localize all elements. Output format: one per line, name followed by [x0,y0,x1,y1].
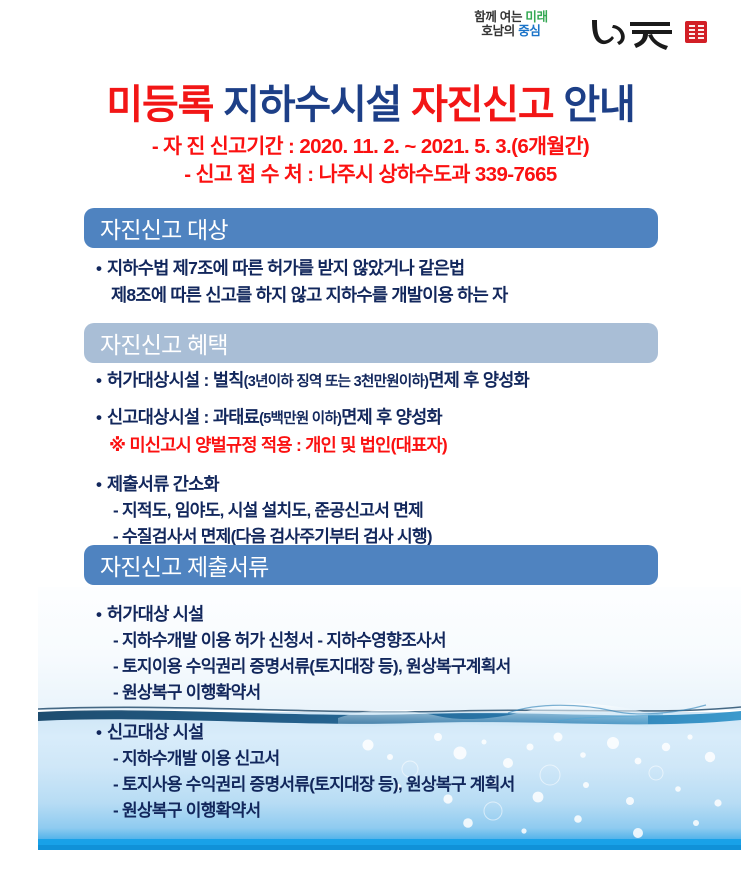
bullet-item: •허가대상시설 : 벌칙(3년이하 징역 또는 3천만원이하)면제 후 양성화 [96,367,696,395]
brand-slogan-line-2: 호남의 중심 [447,24,575,38]
bullet-paren: (5백만원 이하) [259,411,341,427]
page-title: 미등록 지하수시설 자진신고 안내 [0,72,741,130]
continuation-line: 제8조에 따른 신고를 하지 않고 지하수를 개발이용 하는 자 [96,282,696,308]
naju-wordmark-logo [586,12,716,52]
sub-item: - 토지이용 수익권리 증명서류(토지대장 등), 원상복구계획서 [96,654,696,680]
brand-slogan-line-2-plain: 호남의 [481,24,518,38]
notice-subinfo: - 자 진 신고기간 : 2020. 11. 2. ~ 2021. 5. 3.(… [0,133,741,189]
bullet-item: •신고대상시설 : 과태료(5백만원 이하)면제 후 양성화 [96,404,696,432]
bullet-dot-icon: • [96,368,107,394]
bullet-dot-icon: • [96,405,107,431]
page-title-part-1: 미등록 [106,83,213,127]
footer: NA JU 나 주 시 문의전화 : 339-7665 [0,852,741,891]
brand-slogan-line-1: 함께 여는 미래 [447,10,575,24]
bullet-dot-icon: • [96,472,107,498]
page-title-part-3: 자진신고 [411,83,553,127]
sub-item: - 지하수개발 이용 신고서 [96,746,696,772]
bullet-text: 신고대상시설 : 과태료 [107,407,259,427]
section-header-target: 자진신고 대상 [84,208,658,248]
section-body-benefit: •허가대상시설 : 벌칙(3년이하 징역 또는 3천만원이하)면제 후 양성화 … [96,367,696,550]
bullet-item: •지하수법 제7조에 따른 허가를 받지 않았거나 같은법 [96,255,696,282]
bullet-paren: (3년이하 징역 또는 3천만원이하) [244,374,429,390]
section-body-target: •지하수법 제7조에 따른 허가를 받지 않았거나 같은법 제8조에 따른 신고… [96,255,696,308]
warning-line: ※ 미신고시 양벌규정 적용 : 개인 및 법인(대표자) [96,432,696,458]
sub-item: - 원상복구 이행확약서 [96,680,696,706]
brand-slogan-line-1-accent: 미래 [525,10,547,24]
section-header-documents-label: 자진신고 제출서류 [100,548,268,582]
page-title-part-4: 안내 [563,83,634,127]
bullet-tail: 면제 후 양성화 [341,407,442,427]
spacer [96,706,696,719]
bullet-text: 제출서류 간소화 [107,474,219,494]
bullet-item: •제출서류 간소화 [96,471,696,498]
sub-item: - 지적도, 임야도, 시설 설치도, 준공신고서 면제 [96,498,696,524]
bullet-tail: 면제 후 양성화 [428,370,529,390]
section-header-benefit-label: 자진신고 혜택 [100,326,228,360]
brand-slogan-line-2-accent: 중심 [518,24,540,38]
bullet-text: 지하수법 제7조에 따른 허가를 받지 않았거나 같은법 [107,258,464,278]
spacer [96,458,696,471]
bullet-dot-icon: • [96,720,107,746]
bullet-dot-icon: • [96,602,107,628]
sub-item: - 원상복구 이행확약서 [96,798,696,824]
bullet-text: 허가대상 시설 [107,604,204,624]
section-body-documents: •허가대상 시설 - 지하수개발 이용 허가 신청서 - 지하수영향조사서 - … [96,601,696,824]
bullet-text: 허가대상시설 : 벌칙 [107,370,244,390]
bullet-item: •신고대상 시설 [96,719,696,746]
brand-slogan: 함께 여는 미래 호남의 중심 [447,10,575,39]
spacer [96,395,696,404]
brand-strip: 함께 여는 미래 호남의 중심 [0,6,741,54]
notice-period-line: - 자 진 신고기간 : 2020. 11. 2. ~ 2021. 5. 3.(… [0,133,741,161]
page-title-part-2: 지하수시설 [223,83,401,127]
section-header-benefit: 자진신고 혜택 [84,323,658,363]
brand-slogan-line-1-plain: 함께 여는 [474,10,525,24]
notice-contact-line: - 신고 접 수 처 : 나주시 상하수도과 339-7665 [0,161,741,189]
bullet-dot-icon: • [96,256,107,282]
sub-item: - 지하수개발 이용 허가 신청서 - 지하수영향조사서 [96,628,696,654]
bullet-text: 신고대상 시설 [107,722,204,742]
section-header-target-label: 자진신고 대상 [100,211,228,245]
bullet-item: •허가대상 시설 [96,601,696,628]
section-header-documents: 자진신고 제출서류 [84,545,658,585]
sub-item: - 토지사용 수익권리 증명서류(토지대장 등), 원상복구 계획서 [96,772,696,798]
poster-root: 함께 여는 미래 호남의 중심 [0,0,741,891]
